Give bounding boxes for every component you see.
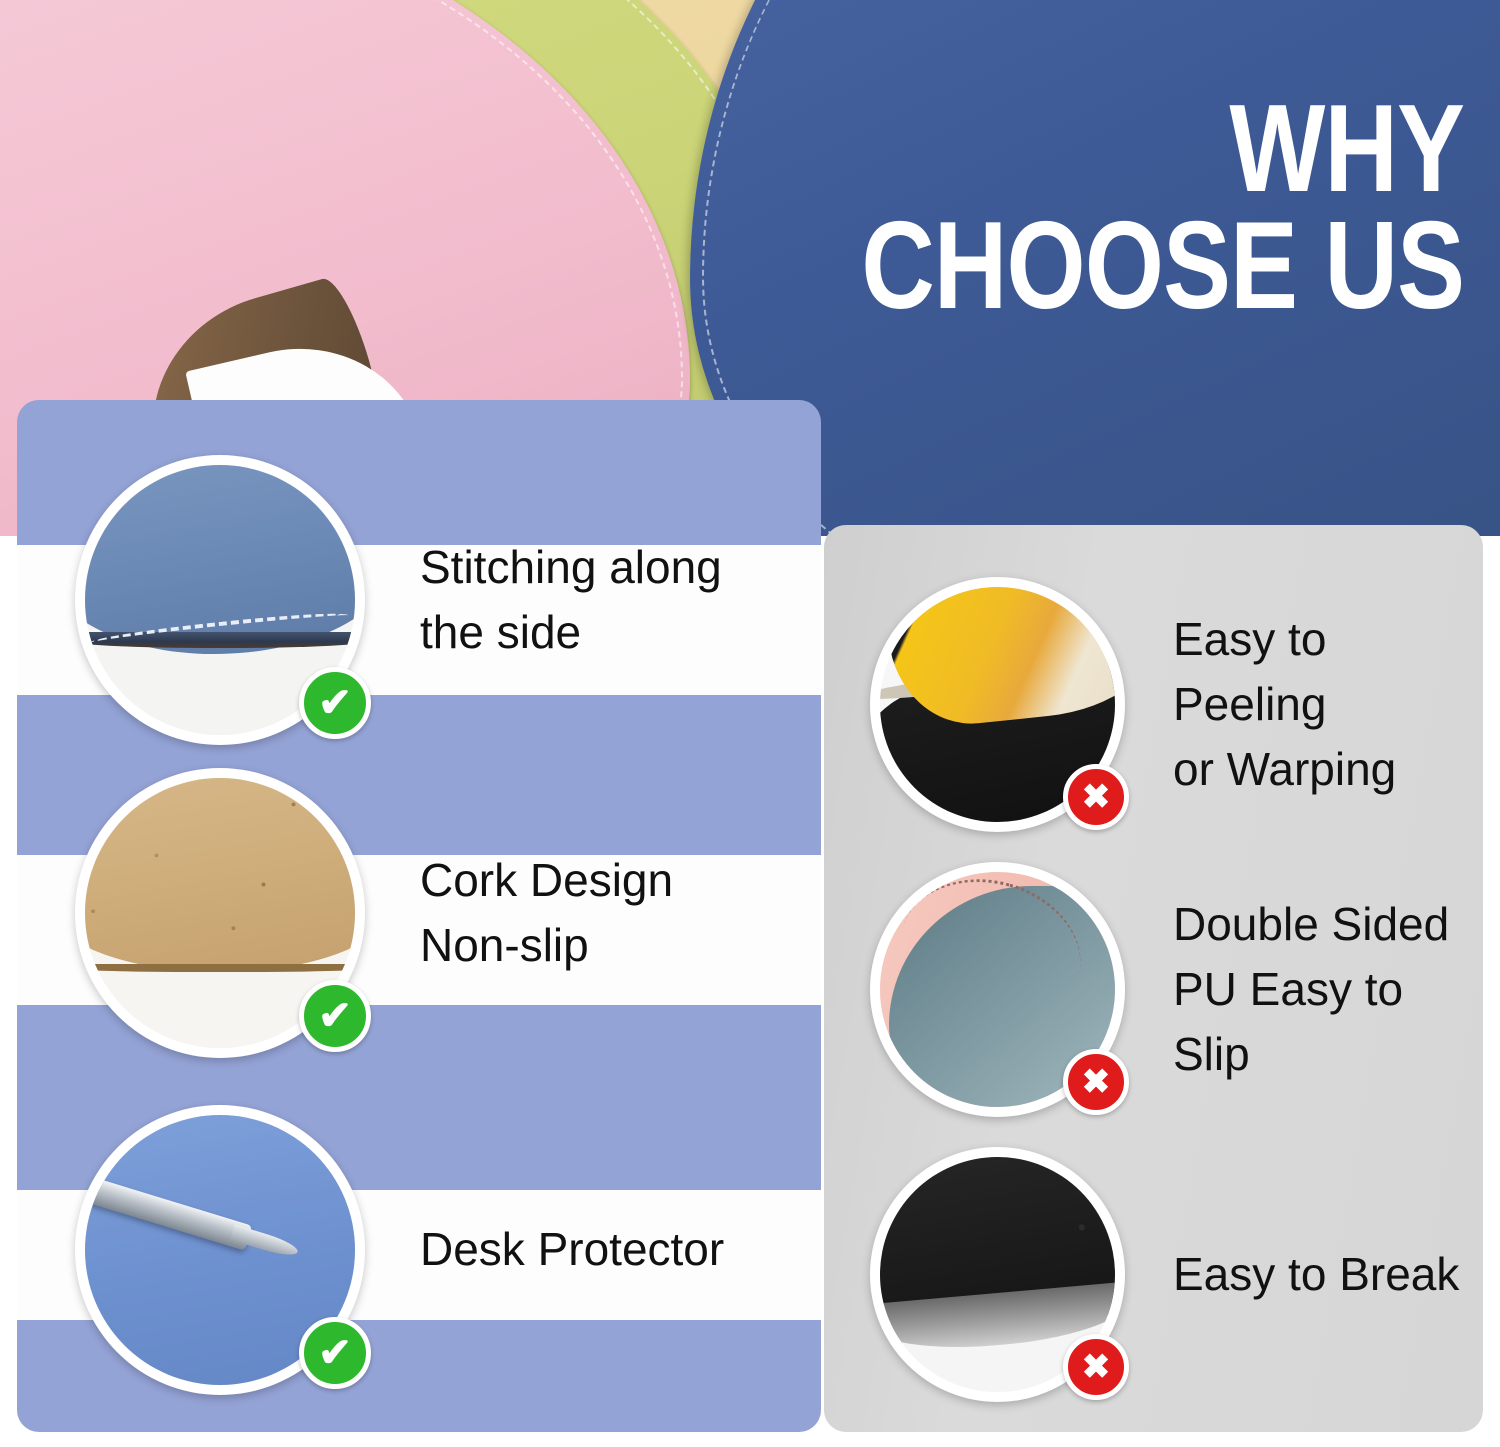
check-badge: ✔ [299,980,371,1052]
pros-thumbnail-3: ✔ [75,1105,365,1395]
check-badge: ✔ [299,667,371,739]
pros-panel: ✔ Stitching along the side ✔ Cork Design… [17,400,821,1432]
cons-label-2: Double Sided PU Easy to Slip [1173,892,1483,1088]
cross-badge: ✖ [1063,1334,1129,1400]
pros-thumbnail-1: ✔ [75,455,365,745]
cons-label-1: Easy to Peeling or Warping [1173,607,1483,803]
cons-thumbnail-3: ✖ [870,1147,1125,1402]
cons-row-1: ✖ Easy to Peeling or Warping [870,577,1483,832]
cons-row-3: ✖ Easy to Break [870,1147,1459,1402]
pros-label-2: Cork Design Non-slip [420,848,673,979]
pros-row-3: ✔ Desk Protector [75,1105,724,1395]
pros-row-1: ✔ Stitching along the side [75,455,722,745]
headline-line-2: CHOOSE US [861,213,1464,320]
pros-row-2: ✔ Cork Design Non-slip [75,768,673,1058]
headline-line-1: WHY [861,96,1464,203]
page-title: WHY CHOOSE US [729,96,1464,319]
cons-thumbnail-2: ✖ [870,862,1125,1117]
cross-badge: ✖ [1063,1049,1129,1115]
pros-label-1: Stitching along the side [420,535,722,666]
cons-label-3: Easy to Break [1173,1242,1459,1307]
cross-badge: ✖ [1063,764,1129,830]
cons-panel: ✖ Easy to Peeling or Warping ✖ Double Si… [824,525,1483,1432]
cons-row-2: ✖ Double Sided PU Easy to Slip [870,862,1483,1117]
cons-thumbnail-1: ✖ [870,577,1125,832]
pros-label-3: Desk Protector [420,1217,724,1282]
pros-thumbnail-2: ✔ [75,768,365,1058]
check-badge: ✔ [299,1317,371,1389]
